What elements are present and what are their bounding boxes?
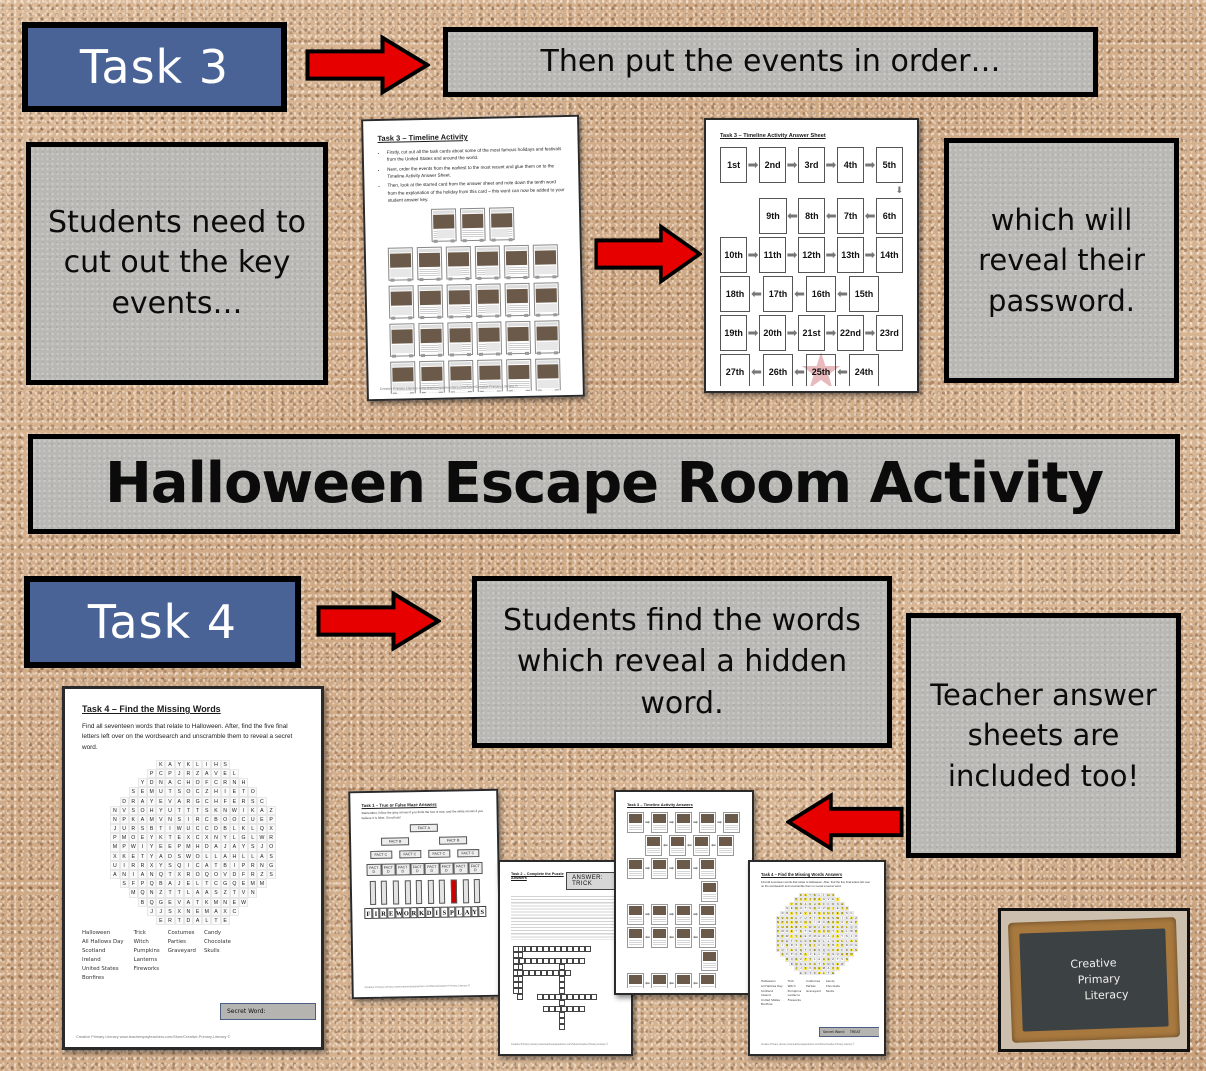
wordsearch-cell[interactable]: A: [211, 842, 220, 851]
wordsearch-cell[interactable]: O: [211, 870, 220, 879]
maze-node[interactable]: FACT D: [366, 864, 381, 876]
timeline-cell[interactable]: 1st: [720, 147, 747, 183]
wordsearch-cell[interactable]: K: [184, 760, 193, 769]
wordsearch-cell[interactable]: A: [138, 815, 147, 824]
wordsearch-cell[interactable]: E: [156, 916, 165, 925]
wordsearch-cell[interactable]: Q: [156, 870, 165, 879]
timeline-cell[interactable]: 23rd: [876, 315, 903, 351]
wordsearch-cell[interactable]: E: [165, 898, 174, 907]
task-4-find-missing-words-worksheet[interactable]: Task 4 – Find the Missing Words Find all…: [62, 686, 324, 1050]
maze-node[interactable]: FACT B: [439, 837, 467, 845]
task-card[interactable]: [447, 284, 473, 318]
wordsearch-cell[interactable]: V: [156, 815, 165, 824]
wordsearch-cell[interactable]: N: [211, 833, 220, 842]
wordsearch-cell[interactable]: E: [165, 842, 174, 851]
wordsearch-cell[interactable]: T: [202, 879, 211, 888]
wordsearch-cell[interactable]: V: [211, 769, 220, 778]
wordsearch-cell[interactable]: K: [248, 806, 257, 815]
wordsearch-cell[interactable]: M: [248, 879, 257, 888]
wordsearch-cell[interactable]: L: [202, 852, 211, 861]
wordsearch-cell[interactable]: P: [147, 769, 156, 778]
wordsearch-cell[interactable]: R: [248, 861, 257, 870]
wordsearch-cell[interactable]: D: [165, 852, 174, 861]
wordsearch-cell[interactable]: H: [211, 760, 220, 769]
wordsearch-cell[interactable]: D: [120, 797, 129, 806]
wordsearch-cell[interactable]: J: [175, 769, 184, 778]
wordsearch-cell[interactable]: Q: [175, 861, 184, 870]
timeline-cell[interactable]: 16th: [806, 276, 836, 312]
wordsearch-cell[interactable]: K: [129, 815, 138, 824]
wordsearch-cell[interactable]: O: [193, 870, 202, 879]
wordsearch-cell[interactable]: M: [849, 952, 854, 957]
wordsearch-cell[interactable]: A: [138, 797, 147, 806]
wordsearch-cell[interactable]: P: [138, 879, 147, 888]
wordsearch-cell[interactable]: Q: [138, 888, 147, 897]
wordsearch-cell[interactable]: Y: [138, 778, 147, 787]
wordsearch-cell[interactable]: N: [147, 870, 156, 879]
wordsearch-cell[interactable]: I: [230, 861, 239, 870]
wordsearch-cell[interactable]: I: [239, 806, 248, 815]
wordsearch-cell[interactable]: R: [221, 778, 230, 787]
wordsearch-cell[interactable]: B: [147, 824, 156, 833]
wordsearch-cell[interactable]: T: [138, 852, 147, 861]
wordsearch-cell[interactable]: W: [175, 824, 184, 833]
wordsearch-cell[interactable]: E: [230, 797, 239, 806]
wordsearch-cell[interactable]: O: [230, 815, 239, 824]
wordsearch-cell[interactable]: W: [129, 842, 138, 851]
task-3-timeline-answer-sheet-answers[interactable]: Task 3 – Timeline Activity Answers ➡➡➡➡⬅…: [614, 790, 754, 995]
wordsearch-cell[interactable]: C: [202, 815, 211, 824]
wordsearch-cell[interactable]: G: [193, 797, 202, 806]
wordsearch-cell[interactable]: S: [248, 797, 257, 806]
wordsearch-cell[interactable]: A: [257, 852, 266, 861]
maze-node[interactable]: FACT D: [381, 864, 396, 876]
wordsearch-cell[interactable]: J: [175, 879, 184, 888]
wordsearch-cell[interactable]: B: [156, 879, 165, 888]
timeline-cell[interactable]: 27th: [720, 354, 750, 386]
timeline-cell[interactable]: 18th: [720, 276, 750, 312]
wordsearch-cell[interactable]: A: [230, 842, 239, 851]
wordsearch-cell[interactable]: W: [257, 833, 266, 842]
wordsearch-cell[interactable]: A: [221, 852, 230, 861]
wordsearch-cell[interactable]: N: [165, 815, 174, 824]
wordsearch-cell[interactable]: D: [211, 824, 220, 833]
wordsearch-cell[interactable]: U: [110, 861, 119, 870]
wordsearch-cell[interactable]: I: [129, 870, 138, 879]
wordsearch-cell[interactable]: T: [165, 787, 174, 796]
task-card[interactable]: [430, 208, 456, 242]
wordsearch-cell[interactable]: N: [120, 870, 129, 879]
timeline-cell[interactable]: 5th: [876, 147, 903, 183]
wordsearch-cell[interactable]: R: [267, 833, 276, 842]
wordsearch-cell[interactable]: S: [138, 824, 147, 833]
maze-node[interactable]: FACT D: [424, 863, 439, 875]
wordsearch-cell[interactable]: E: [175, 833, 184, 842]
wordsearch-cell[interactable]: S: [211, 888, 220, 897]
wordsearch-cell[interactable]: A: [211, 907, 220, 916]
wordsearch-cell[interactable]: Y: [147, 797, 156, 806]
wordsearch-cell[interactable]: X: [184, 833, 193, 842]
task-card[interactable]: [446, 246, 472, 280]
wordsearch-cell[interactable]: F: [239, 870, 248, 879]
wordsearch-cell[interactable]: A: [193, 916, 202, 925]
wordsearch-cell[interactable]: Q: [202, 870, 211, 879]
wordsearch-cell[interactable]: L: [248, 824, 257, 833]
wordsearch-cell[interactable]: P: [239, 861, 248, 870]
wordsearch-cell[interactable]: I: [165, 824, 174, 833]
wordsearch-cell[interactable]: T: [184, 806, 193, 815]
wordsearch-cell[interactable]: U: [165, 806, 174, 815]
wordsearch-cell[interactable]: D: [147, 778, 156, 787]
task-3-timeline-answer-sheet[interactable]: Task 3 – Timeline Activity Answer Sheet …: [704, 118, 919, 393]
task-card[interactable]: [476, 321, 502, 355]
timeline-cell[interactable]: 3rd: [798, 147, 825, 183]
wordsearch-cell[interactable]: S: [267, 870, 276, 879]
timeline-cell[interactable]: 7th: [837, 198, 864, 234]
wordsearch-cell[interactable]: N: [147, 888, 156, 897]
timeline-cell[interactable]: 25th: [806, 354, 836, 386]
wordsearch-cell[interactable]: N: [845, 957, 850, 962]
wordsearch-cell[interactable]: P: [120, 842, 129, 851]
task-card[interactable]: [505, 321, 531, 355]
wordsearch-cell[interactable]: X: [202, 833, 211, 842]
wordsearch-cell[interactable]: K: [239, 824, 248, 833]
task-card[interactable]: [488, 207, 514, 241]
timeline-cell[interactable]: 24th: [849, 354, 879, 386]
task-card[interactable]: [447, 322, 473, 356]
wordsearch-cell[interactable]: C: [211, 879, 220, 888]
wordsearch-cell[interactable]: A: [110, 870, 119, 879]
wordsearch-cell[interactable]: H: [211, 797, 220, 806]
wordsearch-cell[interactable]: R: [184, 769, 193, 778]
wordsearch-cell[interactable]: S: [175, 787, 184, 796]
wordsearch-cell[interactable]: V: [165, 797, 174, 806]
wordsearch-cell[interactable]: N: [221, 898, 230, 907]
wordsearch-cell[interactable]: G: [156, 898, 165, 907]
timeline-cell[interactable]: 21st: [798, 315, 825, 351]
wordsearch-cell[interactable]: I: [221, 787, 230, 796]
timeline-cell[interactable]: 19th: [720, 315, 747, 351]
wordsearch-cell[interactable]: T: [165, 870, 174, 879]
wordsearch-cell[interactable]: Y: [221, 833, 230, 842]
wordsearch-cell[interactable]: E: [193, 907, 202, 916]
wordsearch-cell[interactable]: W: [230, 806, 239, 815]
wordsearch-cell[interactable]: P: [110, 833, 119, 842]
wordsearch-cell[interactable]: R: [129, 824, 138, 833]
wordsearch-cell[interactable]: E: [138, 787, 147, 796]
wordsearch-cell[interactable]: I: [184, 861, 193, 870]
maze-node[interactable]: FACT D: [410, 863, 425, 875]
wordsearch-cell[interactable]: I: [184, 815, 193, 824]
wordsearch-cell[interactable]: E: [221, 916, 230, 925]
wordsearch-cell[interactable]: D: [202, 842, 211, 851]
wordsearch-cell[interactable]: K: [120, 852, 129, 861]
maze-node[interactable]: FACT C: [399, 850, 421, 858]
maze-node[interactable]: FACT C: [370, 851, 392, 859]
wordsearch-cell[interactable]: T: [211, 916, 220, 925]
wordsearch-cell[interactable]: R: [129, 797, 138, 806]
wordsearch-cell[interactable]: S: [854, 948, 859, 953]
wordsearch-cell[interactable]: C: [193, 833, 202, 842]
wordsearch-cell[interactable]: R: [193, 815, 202, 824]
wordsearch-cell[interactable]: E: [129, 852, 138, 861]
wordsearch-cell[interactable]: M: [202, 907, 211, 916]
wordsearch-cell[interactable]: L: [211, 852, 220, 861]
wordsearch-cell[interactable]: E: [239, 879, 248, 888]
wordsearch-cell[interactable]: O: [184, 787, 193, 796]
wordsearch-cell[interactable]: M: [120, 833, 129, 842]
wordsearch-cell[interactable]: N: [248, 888, 257, 897]
wordsearch-cell[interactable]: X: [175, 870, 184, 879]
wordsearch-cell[interactable]: O: [193, 852, 202, 861]
wordsearch-cell[interactable]: H: [239, 778, 248, 787]
task-card[interactable]: [418, 284, 444, 318]
task-card[interactable]: [535, 358, 561, 392]
wordsearch-cell[interactable]: S: [202, 806, 211, 815]
wordsearch-cell[interactable]: X: [147, 861, 156, 870]
wordsearch-cell[interactable]: P: [267, 815, 276, 824]
wordsearch-cell[interactable]: C: [835, 966, 840, 971]
wordsearch-cell[interactable]: S: [175, 815, 184, 824]
wordsearch-cell[interactable]: J: [257, 842, 266, 851]
wordsearch-cell[interactable]: Y: [156, 806, 165, 815]
wordsearch-cell[interactable]: Y: [156, 861, 165, 870]
wordsearch-cell[interactable]: X: [175, 907, 184, 916]
wordsearch-cell[interactable]: S: [129, 806, 138, 815]
wordsearch-cell[interactable]: R: [165, 916, 174, 925]
wordsearch-cell[interactable]: E: [230, 898, 239, 907]
wordsearch-cell[interactable]: G: [267, 861, 276, 870]
wordsearch-cell[interactable]: Y: [175, 760, 184, 769]
wordsearch-cell[interactable]: H: [193, 842, 202, 851]
wordsearch-cell[interactable]: A: [184, 898, 193, 907]
wordsearch-cell[interactable]: C: [211, 778, 220, 787]
wordsearch-cell[interactable]: J: [110, 824, 119, 833]
wordsearch-cell[interactable]: R: [138, 861, 147, 870]
wordsearch-cell[interactable]: Q: [147, 898, 156, 907]
timeline-cell[interactable]: 15th: [849, 276, 879, 312]
wordsearch-cell[interactable]: L: [239, 852, 248, 861]
wordsearch-cell[interactable]: V: [221, 870, 230, 879]
maze-node[interactable]: FACT C: [457, 849, 479, 857]
wordsearch-cell[interactable]: S: [129, 787, 138, 796]
wordsearch-cell[interactable]: B: [138, 898, 147, 907]
wordsearch-cell[interactable]: R: [239, 797, 248, 806]
wordsearch-cell[interactable]: L: [248, 833, 257, 842]
wordsearch-cell[interactable]: L: [184, 888, 193, 897]
wordsearch-cell[interactable]: Z: [193, 769, 202, 778]
timeline-cell[interactable]: 4th: [837, 147, 864, 183]
wordsearch-cell[interactable]: C: [202, 797, 211, 806]
wordsearch-cell[interactable]: N: [221, 806, 230, 815]
wordsearch-cell[interactable]: Y: [147, 842, 156, 851]
timeline-cell[interactable]: 10th: [720, 237, 747, 273]
wordsearch-cell[interactable]: U: [120, 824, 129, 833]
task-2-crossword-answer-sheet[interactable]: Task 2 – Complete the Puzzle Answers ANS…: [498, 860, 633, 1056]
wordsearch-cell[interactable]: P: [165, 769, 174, 778]
wordsearch-cell[interactable]: E: [156, 842, 165, 851]
wordsearch-cell[interactable]: T: [175, 916, 184, 925]
wordsearch-cell[interactable]: B: [221, 824, 230, 833]
wordsearch-cell[interactable]: A: [138, 870, 147, 879]
wordsearch-cell[interactable]: S: [248, 842, 257, 851]
wordsearch-cell[interactable]: Z: [202, 787, 211, 796]
task-3-timeline-activity-worksheet[interactable]: Task 3 – Timeline Activity Firstly, cut …: [361, 115, 585, 402]
maze-node[interactable]: FACT A: [410, 824, 438, 832]
wordsearch-cell[interactable]: S: [267, 852, 276, 861]
wordsearch-cell[interactable]: A: [175, 797, 184, 806]
wordsearch-cell[interactable]: A: [257, 806, 266, 815]
wordsearch-cell[interactable]: R: [184, 870, 193, 879]
wordsearch-cell[interactable]: A: [193, 888, 202, 897]
wordsearch-cell[interactable]: V: [175, 898, 184, 907]
wordsearch-cell[interactable]: E: [257, 815, 266, 824]
wordsearch-cell[interactable]: N: [184, 907, 193, 916]
timeline-cell[interactable]: 9th: [759, 198, 786, 234]
maze-node[interactable]: FACT D: [468, 862, 483, 874]
maze-node[interactable]: FACT D: [439, 863, 454, 875]
wordsearch-cell[interactable]: C: [193, 861, 202, 870]
task-card[interactable]: [388, 247, 414, 281]
wordsearch-cell[interactable]: L: [202, 916, 211, 925]
wordsearch-cell[interactable]: Z: [257, 870, 266, 879]
timeline-cell[interactable]: 6th: [876, 198, 903, 234]
wordsearch-cell[interactable]: V: [239, 888, 248, 897]
task-1-maze-answer-sheet[interactable]: Task 1 – True or False Maze Answers Reme…: [348, 789, 502, 1000]
wordsearch-cell[interactable]: G: [239, 833, 248, 842]
maze-node[interactable]: FACT C: [428, 850, 450, 858]
wordsearch-cell[interactable]: I: [138, 842, 147, 851]
wordsearch-cell[interactable]: C: [193, 787, 202, 796]
wordsearch-cell[interactable]: Y: [239, 842, 248, 851]
wordsearch-cell[interactable]: N: [110, 815, 119, 824]
wordsearch-cell[interactable]: E: [156, 797, 165, 806]
timeline-cell[interactable]: 14th: [876, 237, 903, 273]
wordsearch-cell[interactable]: H: [230, 852, 239, 861]
wordsearch-cell[interactable]: M: [211, 898, 220, 907]
task-card[interactable]: [389, 323, 415, 357]
wordsearch-cell[interactable]: S: [165, 861, 174, 870]
wordsearch-cell[interactable]: L: [193, 879, 202, 888]
wordsearch-cell[interactable]: O: [267, 842, 276, 851]
wordsearch-cell[interactable]: V: [120, 806, 129, 815]
task-card[interactable]: [418, 322, 444, 356]
wordsearch-cell[interactable]: P: [120, 815, 129, 824]
wordsearch-cell[interactable]: C: [239, 815, 248, 824]
wordsearch-cell[interactable]: T: [211, 861, 220, 870]
task-card[interactable]: [389, 285, 415, 319]
wordsearch-cell[interactable]: J: [147, 907, 156, 916]
wordsearch-cell[interactable]: O: [221, 815, 230, 824]
wordsearch-cell[interactable]: T: [156, 824, 165, 833]
wordsearch-cell[interactable]: C: [202, 824, 211, 833]
wordsearch-cell[interactable]: A: [202, 888, 211, 897]
wordsearch-cell[interactable]: D: [184, 916, 193, 925]
timeline-cell[interactable]: 2nd: [759, 147, 786, 183]
wordsearch-cell[interactable]: C: [156, 769, 165, 778]
maze-node[interactable]: FACT B: [381, 838, 409, 846]
wordsearch-cell[interactable]: H: [147, 806, 156, 815]
wordsearch-cell[interactable]: M: [257, 879, 266, 888]
wordsearch-cell[interactable]: Q: [257, 824, 266, 833]
wordsearch-cell[interactable]: S: [221, 760, 230, 769]
wordsearch-cell[interactable]: R: [248, 870, 257, 879]
wordsearch-cell[interactable]: Q: [230, 879, 239, 888]
wordsearch-cell[interactable]: L: [230, 824, 239, 833]
wordsearch-cell[interactable]: Z: [156, 888, 165, 897]
wordsearch-cell[interactable]: C: [230, 907, 239, 916]
wordsearch-cell[interactable]: C: [175, 778, 184, 787]
timeline-cell[interactable]: 17th: [763, 276, 793, 312]
wordsearch-cell[interactable]: T: [175, 888, 184, 897]
wordsearch-cell[interactable]: O: [138, 806, 147, 815]
wordsearch-cell[interactable]: T: [239, 787, 248, 796]
wordsearch-cell[interactable]: T: [193, 898, 202, 907]
wordsearch-cell[interactable]: Y: [147, 833, 156, 842]
wordsearch-cell[interactable]: S: [165, 907, 174, 916]
timeline-cell[interactable]: 26th: [763, 354, 793, 386]
wordsearch-cell[interactable]: Q: [147, 879, 156, 888]
wordsearch-cell[interactable]: W: [840, 962, 845, 967]
wordsearch-cell[interactable]: U: [184, 824, 193, 833]
wordsearch-cell[interactable]: A: [202, 769, 211, 778]
wordsearch-cell[interactable]: G: [221, 879, 230, 888]
wordsearch-cell[interactable]: P: [175, 842, 184, 851]
wordsearch-cell[interactable]: M: [129, 888, 138, 897]
wordsearch-cell[interactable]: X: [267, 824, 276, 833]
wordsearch-cell[interactable]: X: [221, 907, 230, 916]
wordsearch-cell[interactable]: W: [239, 898, 248, 907]
wordsearch-cell[interactable]: F: [202, 778, 211, 787]
wordsearch-cell[interactable]: N: [257, 861, 266, 870]
timeline-cell[interactable]: 20th: [759, 315, 786, 351]
wordsearch-cell[interactable]: R: [129, 861, 138, 870]
timeline-cell[interactable]: 12th: [798, 237, 825, 273]
task-4-wordsearch-answer-sheet[interactable]: Task 4 – Find the Missing Words Answers …: [748, 860, 886, 1056]
wordsearch-cell[interactable]: K: [156, 760, 165, 769]
wordsearch-cell[interactable]: J: [156, 907, 165, 916]
wordsearch-cell[interactable]: U: [156, 787, 165, 796]
maze-node[interactable]: FACT D: [453, 863, 468, 875]
wordsearch-cell[interactable]: A: [202, 861, 211, 870]
wordsearch-cell[interactable]: N: [156, 778, 165, 787]
wordsearch-cell[interactable]: T: [165, 833, 174, 842]
wordsearch-cell[interactable]: K: [156, 833, 165, 842]
wordsearch-cell[interactable]: L: [248, 852, 257, 861]
wordsearch-cell[interactable]: N: [110, 806, 119, 815]
wordsearch-cell[interactable]: L: [230, 833, 239, 842]
wordsearch-cell[interactable]: F: [221, 797, 230, 806]
wordsearch-cell[interactable]: Y: [147, 852, 156, 861]
task-card[interactable]: [534, 320, 560, 354]
wordsearch-cell[interactable]: A: [165, 760, 174, 769]
task-card[interactable]: [475, 245, 501, 279]
wordsearch-cell[interactable]: Z: [221, 888, 230, 897]
timeline-cell[interactable]: 11th: [759, 237, 786, 273]
wordsearch-cell[interactable]: T: [230, 888, 239, 897]
wordsearch-cell[interactable]: E: [184, 879, 193, 888]
wordsearch-cell[interactable]: C: [193, 824, 202, 833]
wordsearch-cell[interactable]: E: [831, 971, 836, 976]
wordsearch-cell[interactable]: E: [230, 787, 239, 796]
wordsearch-grid[interactable]: KAYKLIHSPCPJRZAVELYDNACHOFCRNHSEMUTSOCZH…: [82, 760, 304, 925]
timeline-cell[interactable]: 13th: [837, 237, 864, 273]
task-card[interactable]: [417, 246, 443, 280]
wordsearch-cell[interactable]: H: [184, 778, 193, 787]
maze-node[interactable]: FACT D: [395, 864, 410, 876]
wordsearch-cell[interactable]: D: [230, 870, 239, 879]
wordsearch-cell[interactable]: Z: [267, 806, 276, 815]
